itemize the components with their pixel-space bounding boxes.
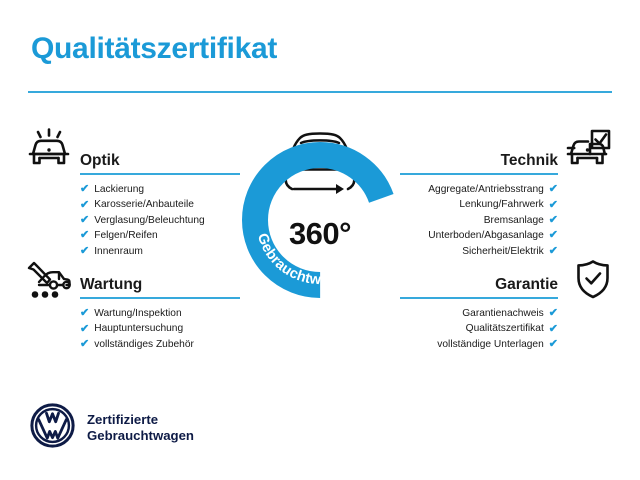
check-icon: ✔: [80, 339, 89, 350]
section-optik-divider: [80, 173, 240, 175]
section-garantie: Garantie Garantienachweis✔ Qualitätszert…: [395, 270, 558, 296]
check-icon: ✔: [549, 324, 558, 335]
certificate-page: Qualitätszertifikat: [0, 0, 640, 480]
section-optik-list: ✔Lackierung ✔Karosserie/Anbauteile ✔Verg…: [80, 182, 205, 259]
section-optik-title: Optik: [80, 152, 120, 170]
section-wartung-header: Wartung: [80, 270, 245, 296]
list-item-label: Lackierung: [94, 182, 144, 197]
list-item: ✔Felgen/Reifen: [80, 228, 205, 243]
car-shine-icon: [26, 128, 72, 170]
list-item-label: vollständige Unterlagen: [437, 337, 543, 352]
section-technik-divider: [400, 173, 558, 175]
vw-footer-line2: Gebrauchtwagen: [87, 428, 194, 443]
list-item-label: Qualitätszertifikat: [466, 321, 544, 336]
list-item-label: Hauptuntersuchung: [94, 321, 183, 336]
check-icon: ✔: [549, 200, 558, 211]
list-item: Bremsanlage✔: [428, 213, 558, 228]
list-item-label: Lenkung/Fahrwerk: [459, 197, 543, 212]
section-garantie-list: Garantienachweis✔ Qualitätszertifikat✔ v…: [437, 306, 558, 352]
title-divider: [28, 91, 612, 93]
page-title: Qualitätszertifikat: [31, 32, 277, 66]
check-icon: ✔: [549, 308, 558, 319]
section-technik-header: Technik: [395, 146, 558, 172]
car-checkbox-icon: [566, 128, 612, 170]
list-item: Lenkung/Fahrwerk✔: [428, 197, 558, 212]
list-item-label: Karosserie/Anbauteile: [94, 197, 194, 212]
check-icon: ✔: [80, 308, 89, 319]
section-garantie-divider: [400, 297, 558, 299]
list-item: ✔vollständiges Zubehör: [80, 337, 194, 352]
list-item: ✔Innenraum: [80, 244, 205, 259]
list-item: Qualitätszertifikat✔: [437, 321, 558, 336]
badge-360-gebrauchtwagen-check: Gebrauchtwagen-Check 360°: [232, 116, 408, 304]
section-optik: Optik ✔Lackierung ✔Karosserie/Anbauteile…: [80, 146, 245, 172]
list-item: Sicherheit/Elektrik✔: [428, 244, 558, 259]
check-icon: ✔: [80, 215, 89, 226]
list-item: Unterboden/Abgasanlage✔: [428, 228, 558, 243]
vw-footer: ZertifizierteGebrauchtwagen: [30, 403, 194, 453]
vw-footer-line1: Zertifizierte: [87, 412, 158, 427]
list-item-label: Innenraum: [94, 244, 143, 259]
vw-footer-text: ZertifizierteGebrauchtwagen: [87, 412, 194, 445]
check-icon: ✔: [549, 215, 558, 226]
list-item: Aggregate/Antriebsstrang✔: [428, 182, 558, 197]
list-item-label: Garantienachweis: [462, 306, 544, 321]
list-item: ✔Verglasung/Beleuchtung: [80, 213, 205, 228]
list-item-label: Sicherheit/Elektrik: [462, 244, 544, 259]
list-item-label: Aggregate/Antriebsstrang: [428, 182, 544, 197]
list-item: vollständige Unterlagen✔: [437, 337, 558, 352]
section-technik-list: Aggregate/Antriebsstrang✔ Lenkung/Fahrwe…: [428, 182, 558, 259]
check-icon: ✔: [549, 230, 558, 241]
section-wartung-divider: [80, 297, 240, 299]
check-icon: ✔: [80, 246, 89, 257]
section-technik: Technik Aggregate/Antriebsstrang✔ Lenkun…: [395, 146, 558, 172]
check-icon: ✔: [80, 200, 89, 211]
list-item: ✔Lackierung: [80, 182, 205, 197]
list-item-label: vollständiges Zubehör: [94, 337, 194, 352]
list-item: Garantienachweis✔: [437, 306, 558, 321]
section-garantie-title: Garantie: [495, 276, 558, 294]
list-item-label: Wartung/Inspektion: [94, 306, 181, 321]
car-service-wrench-icon: [26, 258, 72, 300]
check-icon: ✔: [549, 339, 558, 350]
shield-check-icon: [570, 258, 616, 300]
vw-logo-icon: [30, 403, 75, 453]
list-item-label: Verglasung/Beleuchtung: [94, 213, 204, 228]
list-item-label: Bremsanlage: [484, 213, 544, 228]
list-item: ✔Wartung/Inspektion: [80, 306, 194, 321]
check-icon: ✔: [80, 184, 89, 195]
section-technik-title: Technik: [501, 152, 558, 170]
section-wartung: Wartung ✔Wartung/Inspektion ✔Hauptunters…: [80, 270, 245, 296]
section-optik-header: Optik: [80, 146, 245, 172]
list-item: ✔Hauptuntersuchung: [80, 321, 194, 336]
check-icon: ✔: [80, 230, 89, 241]
section-wartung-list: ✔Wartung/Inspektion ✔Hauptuntersuchung ✔…: [80, 306, 194, 352]
check-icon: ✔: [549, 184, 558, 195]
list-item: ✔Karosserie/Anbauteile: [80, 197, 205, 212]
list-item-label: Unterboden/Abgasanlage: [428, 228, 544, 243]
check-icon: ✔: [549, 246, 558, 257]
list-item-label: Felgen/Reifen: [94, 228, 157, 243]
section-garantie-header: Garantie: [395, 270, 558, 296]
check-icon: ✔: [80, 324, 89, 335]
section-wartung-title: Wartung: [80, 276, 142, 294]
